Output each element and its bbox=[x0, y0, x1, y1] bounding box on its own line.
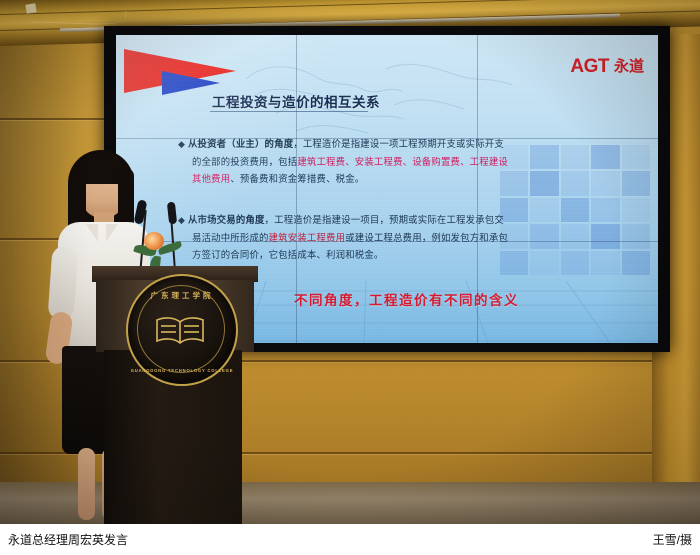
bullet-1-line3: 、预备费和资金筹措费、税金。 bbox=[230, 173, 364, 184]
emblem-chinese-name: 广东理工学院 bbox=[128, 290, 236, 301]
slide-bullet-2: ◆ 从市场交易的角度，工程造价是指建设一项目，预期或实际在工程发承包交 易活动中… bbox=[178, 211, 608, 263]
screen-panel-seam bbox=[116, 138, 658, 139]
caption-bar: 永道总经理周宏英发言 王雪/摄 bbox=[0, 524, 700, 555]
bullet-2-line1: ，工程造价是指建设一项目，预期或实际在工程发承包交 bbox=[265, 214, 504, 225]
bullet-2-line3: 方签订的合同价，它包括成本、利润和税金。 bbox=[178, 249, 384, 260]
speaker-leg-left bbox=[78, 448, 95, 520]
emblem-english-name: GUANGDONG TECHNOLOGY COLLEGE bbox=[128, 368, 236, 373]
screen-panel-seam bbox=[477, 35, 478, 343]
bullet-2-lead: 从市场交易的角度 bbox=[188, 214, 265, 225]
screen-panel-seam bbox=[116, 241, 658, 242]
caption-text: 永道总经理周宏英发言 bbox=[8, 531, 128, 548]
slide-conclusion: 不同角度，工程造价有不同的含义 bbox=[294, 289, 519, 309]
speaker-arm bbox=[47, 245, 78, 321]
caption-credit: 王雪/摄 bbox=[653, 531, 692, 548]
bullet-1-line2-pre: 的全部的投资费用，包括 bbox=[178, 156, 297, 167]
bullet-glyph: ◆ bbox=[178, 139, 185, 149]
wall-hook bbox=[25, 3, 36, 14]
screen-panel-seam bbox=[296, 35, 297, 343]
agt-logo-mark: AGT bbox=[570, 57, 609, 76]
emblem-book-icon bbox=[154, 314, 206, 346]
speaker-collar-left bbox=[86, 224, 98, 242]
bullet-1-line1: ，工程造价是指建设一项工程预期开支或实际开支 bbox=[293, 138, 504, 149]
slide-bullet-1: ◆ 从投资者（业主）的角度，工程造价是指建设一项工程预期开支或实际开支 的全部的… bbox=[178, 135, 598, 187]
bullet-1-lead: 从投资者（业主）的角度 bbox=[188, 138, 293, 149]
speaker-collar-right bbox=[106, 224, 118, 242]
photo-screenshot: 工程投资与造价的相互关系 AGT 永道 ◆ 从投资者（业主）的角度，工程造价是指… bbox=[0, 0, 700, 555]
slide-title-rule bbox=[210, 111, 368, 112]
agt-logo-name: 永道 bbox=[614, 59, 644, 74]
agt-logo: AGT 永道 bbox=[570, 57, 644, 76]
college-emblem: 广东理工学院 GUANGDONG TECHNOLOGY COLLEGE bbox=[126, 274, 238, 386]
flower-bloom bbox=[144, 232, 164, 250]
